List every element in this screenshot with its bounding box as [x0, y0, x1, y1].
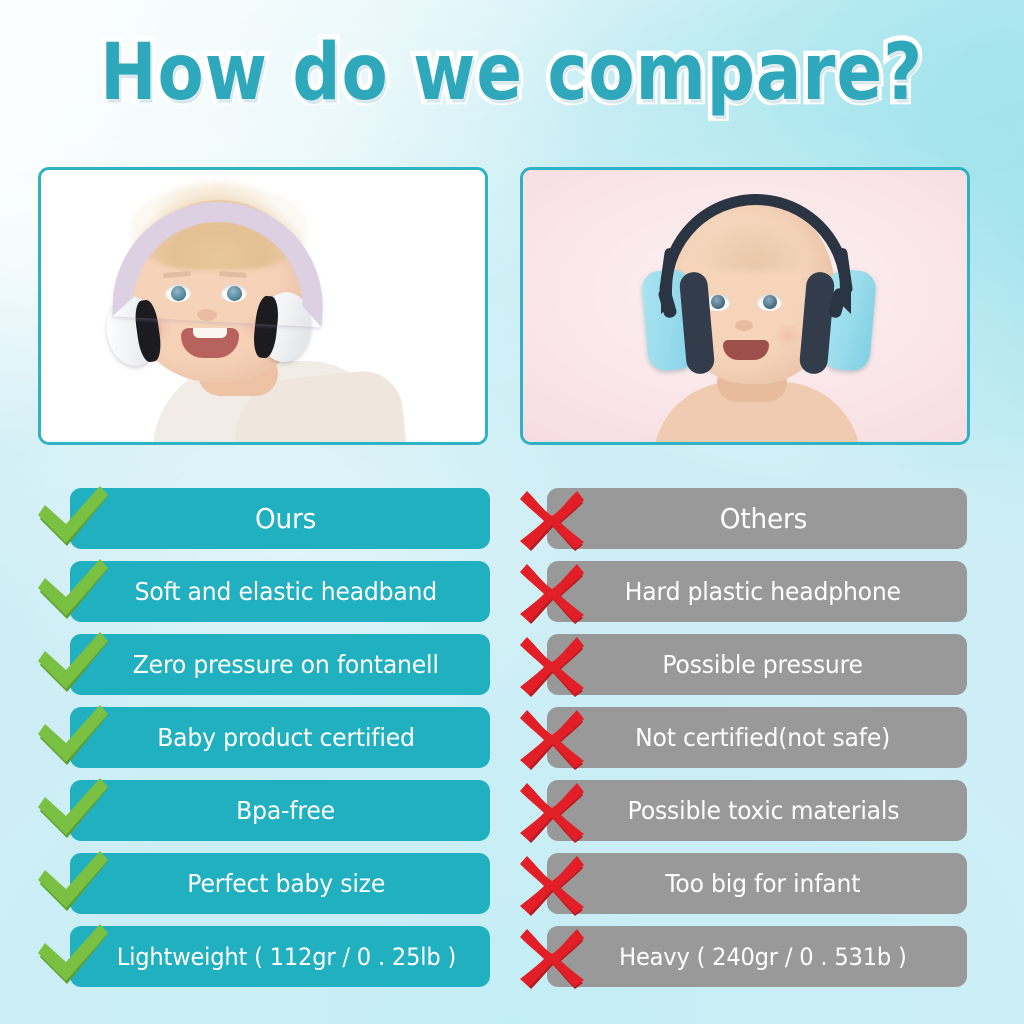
feature-label-ours: Lightweight ( 112gr / 0 . 25lb ): [116, 945, 455, 969]
cell-ours: Baby product certified: [70, 707, 490, 768]
column-header-others: Others: [719, 505, 806, 533]
header-cell-ours: Ours: [70, 488, 490, 549]
page-title: How do we compare?: [100, 34, 923, 113]
cell-ours: Lightweight ( 112gr / 0 . 25lb ): [70, 926, 490, 987]
baby-teeth: [193, 328, 227, 338]
baby-illustration-others: [631, 182, 881, 442]
pill-others: Hard plastic headphone: [547, 561, 967, 622]
feature-label-others: Heavy ( 240gr / 0 . 531b ): [619, 945, 906, 969]
feature-label-ours: Baby product certified: [157, 725, 415, 750]
table-row: Soft and elastic headband Hard plastic h…: [0, 561, 1024, 622]
table-row: Lightweight ( 112gr / 0 . 25lb ) Heavy (…: [0, 926, 1024, 987]
cell-others: Possible pressure: [547, 634, 967, 695]
baby-cheek-right-others: [773, 324, 803, 346]
photo-panel-others: [520, 167, 970, 445]
feature-label-ours: Bpa-free: [237, 798, 336, 823]
table-row: Bpa-free Possible toxic materials: [0, 780, 1024, 841]
baby-mouth-others: [723, 340, 769, 360]
cell-ours: Soft and elastic headband: [70, 561, 490, 622]
product-photo-ours: [41, 170, 485, 442]
feature-label-others: Hard plastic headphone: [625, 579, 901, 604]
feature-label-others: Possible pressure: [663, 652, 863, 677]
cell-others: Too big for infant: [547, 853, 967, 914]
pill-ours-header: Ours: [70, 488, 490, 549]
cell-ours: Zero pressure on fontanell: [70, 634, 490, 695]
feature-label-others: Not certified(not safe): [636, 725, 891, 750]
pill-others: Possible pressure: [547, 634, 967, 695]
pill-ours: Zero pressure on fontanell: [70, 634, 490, 695]
feature-label-ours: Zero pressure on fontanell: [133, 652, 439, 677]
table-row: Perfect baby size Too big for infant: [0, 853, 1024, 914]
table-row: Zero pressure on fontanell Possible pres…: [0, 634, 1024, 695]
pill-ours: Perfect baby size: [70, 853, 490, 914]
cell-others: Possible toxic materials: [547, 780, 967, 841]
cell-others: Hard plastic headphone: [547, 561, 967, 622]
comparison-infographic: How do we compare?: [0, 0, 1024, 1024]
photo-panel-ours: [38, 167, 488, 445]
feature-label-ours: Soft and elastic headband: [135, 579, 437, 604]
hard-plastic-headband: [661, 194, 851, 314]
comparison-table: Ours Others: [0, 488, 1024, 999]
pill-ours: Lightweight ( 112gr / 0 . 25lb ): [70, 926, 490, 987]
pill-others: Too big for infant: [547, 853, 967, 914]
pill-others-header: Others: [547, 488, 967, 549]
pill-ours: Bpa-free: [70, 780, 490, 841]
cell-ours: Perfect baby size: [70, 853, 490, 914]
table-header-row: Ours Others: [0, 488, 1024, 549]
pill-ours: Baby product certified: [70, 707, 490, 768]
pill-others: Not certified(not safe): [547, 707, 967, 768]
table-row: Baby product certified Not certified(not…: [0, 707, 1024, 768]
title-container: How do we compare?: [0, 34, 1024, 102]
cell-others: Heavy ( 240gr / 0 . 531b ): [547, 926, 967, 987]
pill-others: Heavy ( 240gr / 0 . 531b ): [547, 926, 967, 987]
cell-others: Not certified(not safe): [547, 707, 967, 768]
column-header-ours: Ours: [255, 505, 316, 533]
cell-ours: Bpa-free: [70, 780, 490, 841]
feature-label-others: Too big for infant: [665, 871, 860, 896]
baby-nose-others: [735, 320, 753, 331]
feature-label-others: Possible toxic materials: [627, 798, 899, 823]
feature-label-ours: Perfect baby size: [187, 871, 385, 896]
pill-ours: Soft and elastic headband: [70, 561, 490, 622]
product-photo-others: [523, 170, 967, 442]
header-cell-others: Others: [547, 488, 967, 549]
baby-illustration-ours: [93, 176, 393, 442]
pill-others: Possible toxic materials: [547, 780, 967, 841]
